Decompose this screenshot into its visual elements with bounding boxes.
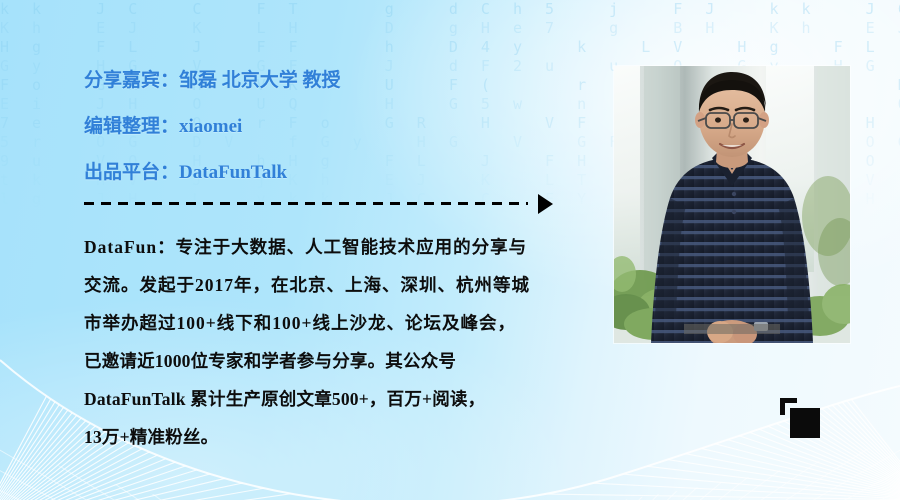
- play-triangle-icon: [538, 194, 553, 214]
- speaker-photo: [614, 66, 850, 343]
- speaker-line: 分享嘉宾：邹磊 北京大学 教授: [84, 58, 554, 104]
- about-paragraph-line: 交流。发起于2017年，在北京、上海、深圳、杭州等城: [84, 266, 546, 304]
- code-texture-row: k k J C C F T g d C h 5 j F J k k J C C …: [0, 0, 900, 19]
- platform-value: DataFunTalk: [179, 162, 287, 183]
- platform-line: 出品平台：DataFunTalk: [84, 150, 554, 196]
- about-paragraph-line: DataFunTalk 累计生产原创文章500+，百万+阅读，: [84, 380, 546, 418]
- about-paragraph-line: 已邀请近1000位专家和学者参与分享。其公众号: [84, 342, 546, 380]
- filled-square-icon: [790, 408, 820, 438]
- dashed-line: [84, 202, 528, 205]
- about-paragraph: DataFun：专注于大数据、人工智能技术应用的分享与交流。发起于2017年，在…: [84, 228, 546, 456]
- about-paragraph-line: DataFun：专注于大数据、人工智能技术应用的分享与: [84, 228, 546, 266]
- speaker-label: 分享嘉宾：: [84, 70, 179, 91]
- code-texture-row: K h E J K L H D g H e 7 g B H K h E J K …: [0, 19, 900, 38]
- editor-line: 编辑整理：xiaomei: [84, 104, 554, 150]
- section-divider: [84, 194, 554, 214]
- about-paragraph-line: 13万+精准粉丝。: [84, 418, 546, 456]
- about-paragraph-line: 市举办超过100+线下和100+线上沙龙、论坛及峰会，: [84, 304, 546, 342]
- speaker-meta-block: 分享嘉宾：邹磊 北京大学 教授 编辑整理：xiaomei 出品平台：DataFu…: [84, 58, 554, 196]
- editor-value: xiaomei: [179, 116, 242, 137]
- speaker-value: 邹磊 北京大学 教授: [179, 70, 341, 91]
- platform-label: 出品平台：: [84, 162, 179, 183]
- editor-label: 编辑整理：: [84, 116, 179, 137]
- presentation-slide: k k J C C F T g d C h 5 j F J k k J C C …: [0, 0, 900, 500]
- corner-mark: [780, 398, 822, 438]
- code-texture-row: H g F L J F F h D 4 y k L V H g F L J F …: [0, 38, 900, 57]
